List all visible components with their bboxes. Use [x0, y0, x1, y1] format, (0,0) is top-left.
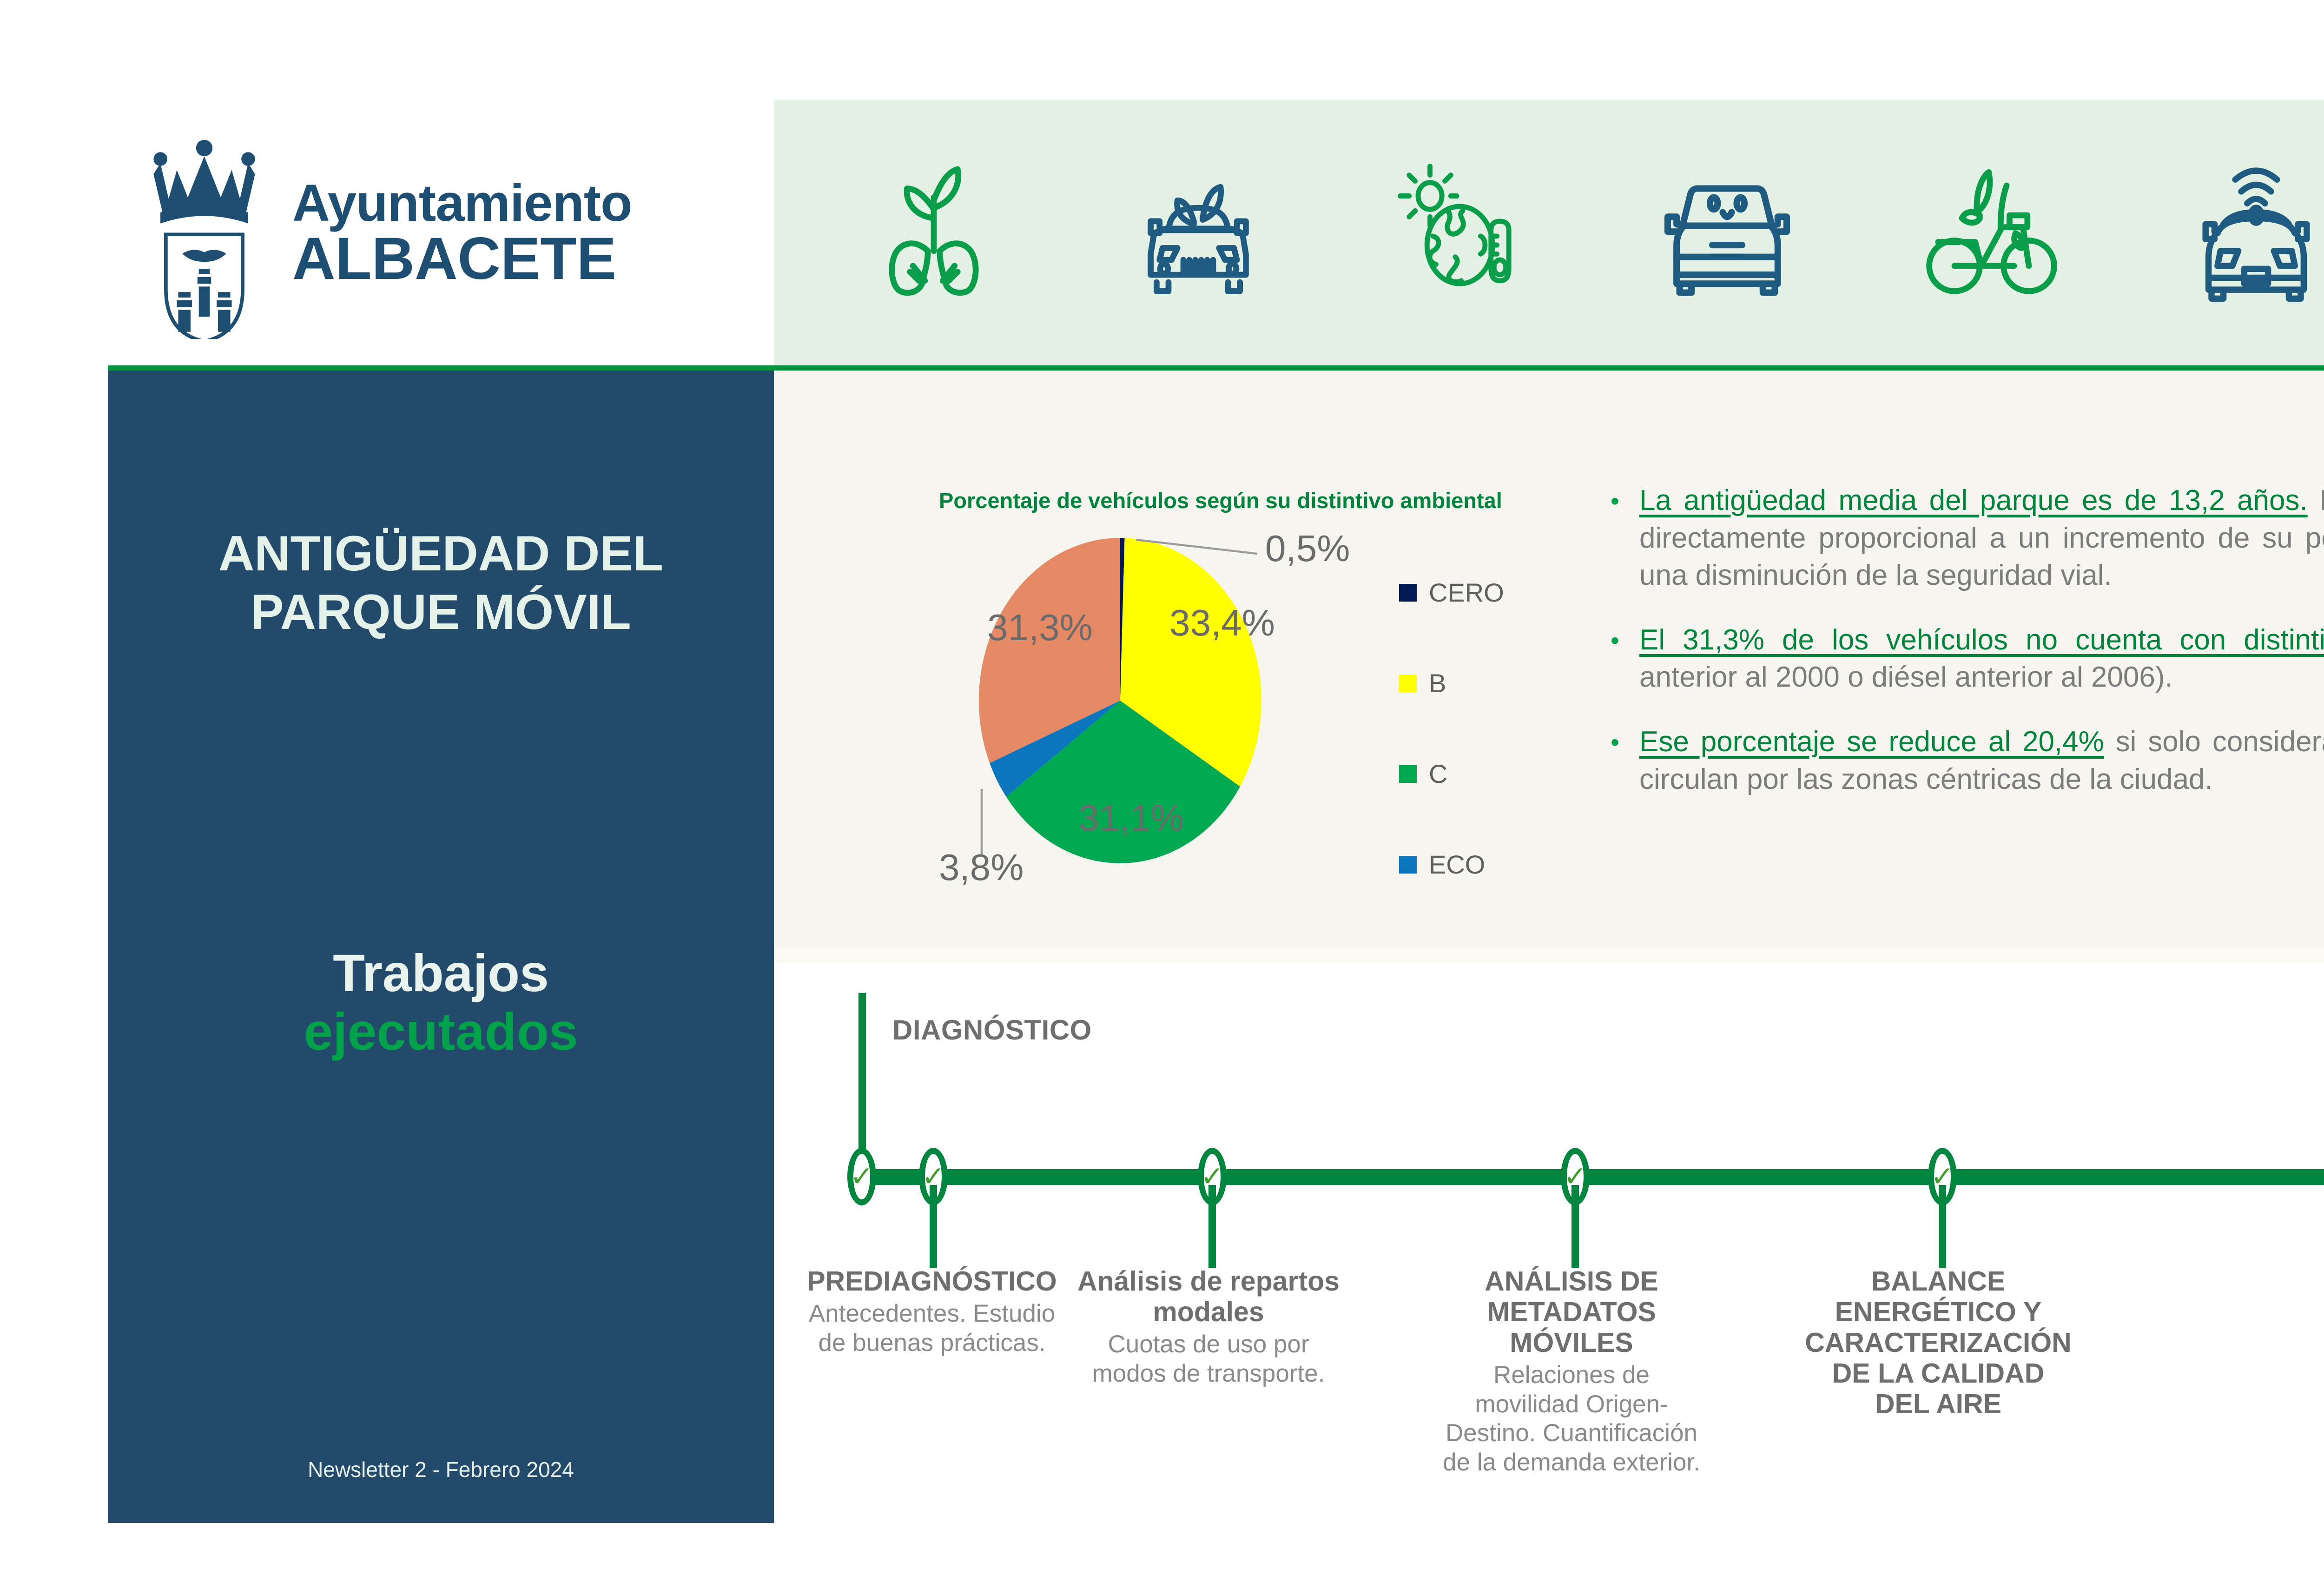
timeline-item-heading: BALANCE ENERGÉTICO Y CARACTERIZACIÓN DE …	[1803, 1266, 2073, 1419]
legend-item-eco: ECO	[1399, 819, 1594, 910]
timeline-phase-label: DIAGNÓSTICO	[892, 1014, 1092, 1046]
albacete-coat-of-arms-icon	[136, 133, 273, 333]
insight-text: Ese porcentaje se reduce al 20,4% si sol…	[1639, 723, 2324, 798]
sidebar-subtitle-line2: ejecutados	[153, 1002, 729, 1061]
pie-label-eco: 3,8%	[939, 847, 1023, 888]
insight-highlight: La antigüedad media del parque es de 13,…	[1639, 484, 2308, 516]
insight-bullet: • Ese porcentaje se reduce al 20,4% si s…	[1611, 723, 2324, 798]
timeline-item-detail: Antecedentes. Estudio de buenas práctica…	[792, 1299, 1071, 1357]
timeline-stem-1	[930, 1185, 937, 1268]
sidebar-subtitle: Trabajos ejecutados	[153, 944, 729, 1061]
connected-car-wifi-icon	[2182, 153, 2324, 313]
page-title: ANTIGÜEDAD DEL PARQUE MÓVIL	[153, 524, 729, 642]
newsletter-footer: Newsletter 2 - Febrero 2024	[108, 1457, 774, 1482]
timeline-panel: DIAGNÓSTICO ✓ ✓ ✓ ✓ ✓ PREDIAGNÓSTICO Ant…	[774, 963, 2324, 1523]
timeline-node-phase: ✓	[847, 1148, 876, 1205]
check-icon: ✓	[850, 1163, 873, 1191]
timeline-item-1: PREDIAGNÓSTICO Antecedentes. Estudio de …	[792, 1266, 1071, 1357]
timeline-item-2: Análisis de repartos modales Cuotas de u…	[1074, 1266, 1343, 1388]
bullet-dot-icon: •	[1611, 482, 1639, 595]
brand-line-1: Ayuntamiento	[292, 179, 632, 228]
legend-label-eco: ECO	[1429, 849, 1485, 880]
legend-item-b: B	[1399, 638, 1594, 728]
legend-swatch-c	[1399, 765, 1417, 783]
sidebar-subtitle-line1: Trabajos	[153, 944, 729, 1003]
header-divider	[108, 365, 2324, 371]
legend-swatch-eco	[1399, 856, 1417, 874]
legend-swatch-b	[1399, 675, 1417, 692]
timeline-stem-4	[1939, 1185, 1946, 1268]
timeline-item-heading: Análisis de repartos modales	[1074, 1266, 1343, 1327]
legend-item-cero: CERO	[1399, 547, 1594, 638]
timeline-item-3: ANÁLISIS DE METADATOS MÓVILES Relaciones…	[1439, 1266, 1704, 1477]
insight-highlight: El 31,3% de los vehículos no cuenta con …	[1639, 624, 2324, 656]
insight-text: El 31,3% de los vehículos no cuenta con …	[1639, 622, 2324, 696]
timeline-stem-2	[1208, 1185, 1216, 1268]
timeline-stem-3	[1571, 1185, 1579, 1268]
chart-legend: CERO B C ECO	[1399, 547, 1594, 910]
legend-item-c: C	[1399, 728, 1594, 819]
friendly-car-face-icon	[1653, 153, 1802, 313]
globe-sun-thermometer-icon	[1388, 153, 1537, 313]
insight-bullet: • La antigüedad media del parque es de 1…	[1611, 482, 2324, 595]
legend-label-cero: CERO	[1429, 577, 1504, 608]
timeline-item-detail: Relaciones de movilidad Origen-Destino. …	[1439, 1361, 1704, 1477]
legend-swatch-cero	[1399, 584, 1417, 602]
chart-title: Porcentaje de vehículos según su distint…	[939, 488, 1566, 513]
timeline-axis	[860, 1169, 2324, 1185]
brand-logo-block: Ayuntamiento ALBACETE	[108, 100, 774, 365]
brand-line-2: ALBACETE	[292, 231, 632, 287]
brand-wordmark: Ayuntamiento ALBACETE	[292, 179, 632, 287]
timeline-item-detail: Cuotas de uso por modos de transporte.	[1074, 1330, 1343, 1388]
legend-label-b: B	[1429, 668, 1446, 698]
chart-and-insights-panel: Porcentaje de vehículos según su distint…	[774, 371, 2324, 947]
pie-label-sin-distintivo: 31,3%	[987, 607, 1093, 648]
bicycle-leaf-icon	[1917, 153, 2066, 313]
insight-text: La antigüedad media del parque es de 13,…	[1639, 482, 2324, 595]
lungs-plant-icon	[859, 153, 1008, 313]
left-sidebar: ANTIGÜEDAD DEL PARQUE MÓVIL Trabajos eje…	[108, 371, 774, 1523]
legend-label-c: C	[1429, 759, 1447, 789]
eco-car-leaf-icon	[1124, 153, 1273, 313]
timeline-item-4: BALANCE ENERGÉTICO Y CARACTERIZACIÓN DE …	[1803, 1266, 2073, 1422]
pie-label-cero: 0,5%	[1265, 528, 1350, 569]
pie-label-b: 33,4%	[1169, 602, 1275, 643]
bullet-dot-icon: •	[1611, 622, 1639, 696]
pie-chart: 0,5% 33,4% 31,1% 3,8% 31,3%	[920, 510, 1320, 891]
bullet-dot-icon: •	[1611, 723, 1639, 798]
insight-bullet-list: • La antigüedad media del parque es de 1…	[1611, 482, 2324, 825]
insight-bullet: • El 31,3% de los vehículos no cuenta co…	[1611, 622, 2324, 696]
header-icon-strip	[774, 100, 2324, 365]
header-band: Ayuntamiento ALBACETE	[108, 100, 2324, 365]
infographic-page: Ayuntamiento ALBACETE	[0, 0, 2324, 1569]
timeline-item-heading: ANÁLISIS DE METADATOS MÓVILES	[1439, 1266, 1704, 1358]
insight-highlight: Ese porcentaje se reduce al 20,4%	[1639, 726, 2104, 758]
pie-label-c: 31,1%	[1078, 797, 1184, 839]
timeline-item-heading: PREDIAGNÓSTICO	[792, 1266, 1071, 1297]
content-canvas: Ayuntamiento ALBACETE	[108, 100, 2324, 1523]
